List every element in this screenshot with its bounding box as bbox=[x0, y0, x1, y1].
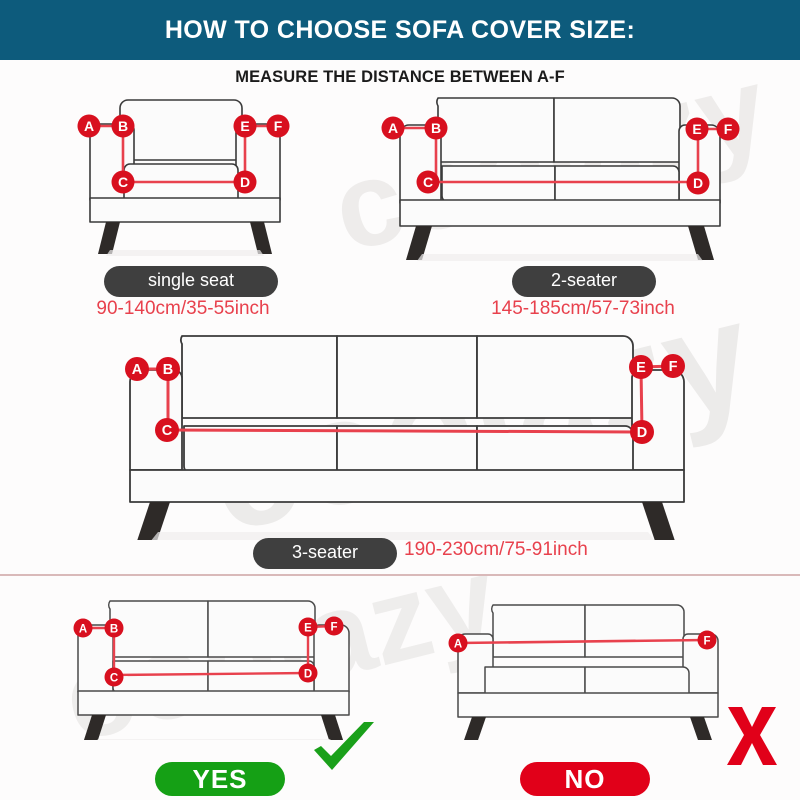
header-bar: HOW TO CHOOSE SOFA COVER SIZE: bbox=[0, 0, 800, 60]
yes-button[interactable]: YES bbox=[155, 762, 285, 796]
incorrect-example-markers: A F bbox=[435, 595, 735, 740]
marker-label-e: E bbox=[240, 118, 249, 134]
subtitle: MEASURE THE DISTANCE BETWEEN A-F bbox=[0, 68, 800, 87]
marker-label-a: A bbox=[388, 120, 398, 136]
marker-label-d: D bbox=[240, 174, 250, 190]
two-seater-label: 2-seater bbox=[512, 266, 656, 297]
marker-label-f: F bbox=[724, 121, 733, 137]
marker-label-a: A bbox=[84, 118, 94, 134]
marker-label-a: A bbox=[132, 362, 143, 378]
marker-label-b: B bbox=[110, 624, 118, 636]
marker-label-b: B bbox=[118, 118, 128, 134]
marker-label-d: D bbox=[304, 669, 312, 681]
marker-label-c: C bbox=[162, 423, 173, 439]
two-seater-dimension: 145-185cm/57-73inch bbox=[458, 298, 708, 320]
two-seater-markers: A B C D E F bbox=[380, 90, 740, 270]
marker-label-d: D bbox=[637, 425, 647, 441]
marker-label-a: A bbox=[79, 624, 87, 636]
x-mark-icon bbox=[722, 705, 782, 767]
marker-label-f: F bbox=[274, 118, 283, 134]
three-seater-dimension: 190-230cm/75-91inch bbox=[404, 539, 588, 561]
single-seat-dimension: 90-140cm/35-55inch bbox=[93, 298, 273, 320]
no-button[interactable]: NO bbox=[520, 762, 650, 796]
marker-label-c: C bbox=[110, 673, 118, 685]
marker-label-d: D bbox=[693, 175, 703, 191]
marker-label-b: B bbox=[431, 120, 441, 136]
check-mark-icon bbox=[310, 718, 380, 778]
section-divider bbox=[0, 574, 800, 576]
marker-label-a: A bbox=[454, 639, 462, 651]
marker-label-c: C bbox=[423, 174, 433, 190]
page-title: HOW TO CHOOSE SOFA COVER SIZE: bbox=[165, 16, 635, 45]
three-seater-label: 3-seater bbox=[253, 538, 397, 569]
marker-label-f: F bbox=[669, 359, 678, 375]
marker-label-e: E bbox=[304, 623, 312, 635]
marker-label-e: E bbox=[692, 121, 701, 137]
marker-label-f: F bbox=[703, 636, 710, 648]
single-seat-markers: A B C D E F bbox=[70, 90, 300, 270]
marker-label-f: F bbox=[330, 622, 337, 634]
sofa-size-guide-page: HOW TO CHOOSE SOFA COVER SIZE: MEASURE T… bbox=[0, 0, 800, 800]
marker-label-c: C bbox=[118, 174, 128, 190]
single-seat-label: single seat bbox=[104, 266, 278, 297]
marker-label-e: E bbox=[636, 360, 646, 376]
marker-label-b: B bbox=[163, 362, 173, 378]
three-seater-markers: A B C D E F bbox=[110, 330, 700, 540]
